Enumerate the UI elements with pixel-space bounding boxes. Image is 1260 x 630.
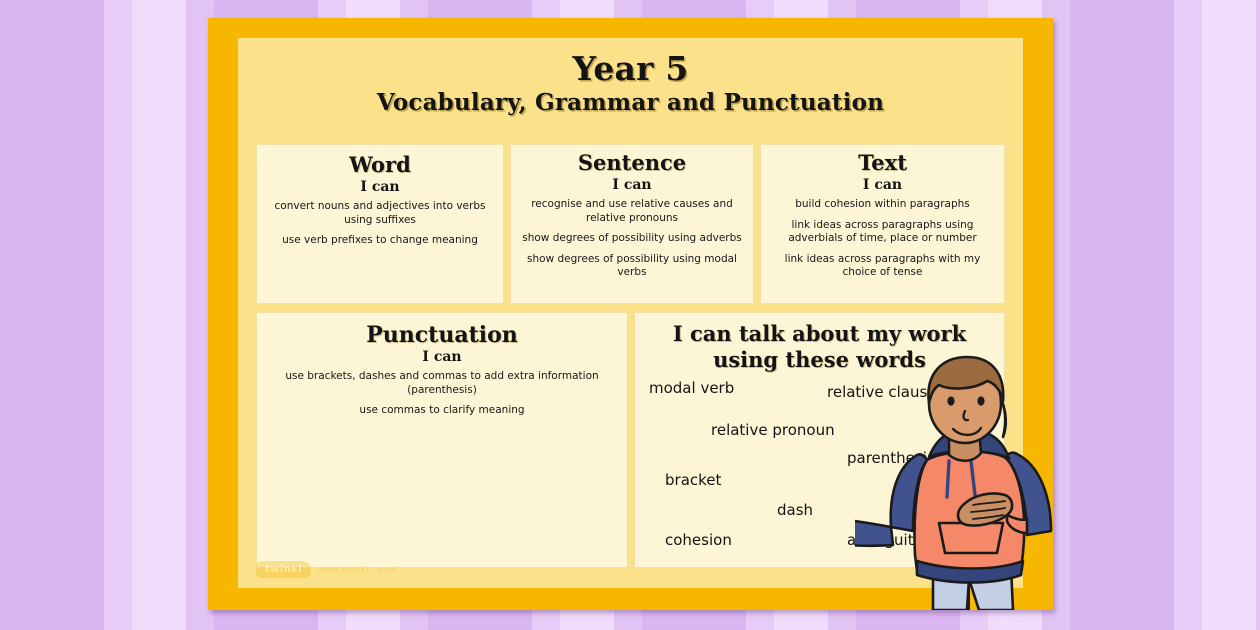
word-cloud-heading: I can talk about my work using these wor…: [635, 313, 1004, 373]
card-word-line: use verb prefixes to change meaning: [257, 234, 503, 248]
card-punctuation-line: use commas to clarify meaning: [257, 404, 627, 418]
word-chip-dash: dash: [777, 501, 813, 519]
word-cloud-heading-line2: using these words: [649, 347, 990, 373]
card-punctuation-line: use brackets, dashes and commas to add e…: [257, 370, 627, 397]
card-text-line: build cohesion within paragraphs: [761, 198, 1004, 212]
page-title: Year 5: [238, 50, 1023, 88]
striped-background: Year 5 Vocabulary, Grammar and Punctuati…: [0, 0, 1260, 630]
word-cloud-area: modal verb relative clause relative pron…: [635, 373, 1005, 568]
twinkl-logo: twinkl: [256, 561, 311, 578]
word-chip-cohesion: cohesion: [665, 531, 732, 549]
twinkl-watermark: twinkl www.twinkl.co.uk: [256, 561, 397, 578]
poster-title-block: Year 5 Vocabulary, Grammar and Punctuati…: [238, 50, 1023, 118]
word-chip-ambiguity: ambiguity: [847, 531, 922, 549]
card-text: Text I can build cohesion within paragra…: [760, 144, 1005, 304]
card-text-lines: build cohesion within paragraphs link id…: [761, 198, 1004, 280]
card-punctuation-heading: Punctuation: [257, 322, 627, 348]
card-word-lines: convert nouns and adjectives into verbs …: [257, 200, 503, 248]
card-sentence-line: show degrees of possibility using modal …: [511, 253, 753, 280]
card-word-line: convert nouns and adjectives into verbs …: [257, 200, 503, 227]
card-sentence-line: recognise and use relative causes and re…: [511, 198, 753, 225]
card-text-line: link ideas across paragraphs with my cho…: [761, 253, 1004, 280]
word-chip-relative-clause: relative clause: [827, 383, 937, 401]
card-punctuation-lines: use brackets, dashes and commas to add e…: [257, 370, 627, 418]
card-text-ican: I can: [761, 176, 1004, 195]
page-subtitle: Vocabulary, Grammar and Punctuation: [238, 88, 1023, 118]
card-sentence-lines: recognise and use relative causes and re…: [511, 198, 753, 280]
card-punctuation-ican: I can: [257, 348, 627, 367]
word-cloud-heading-line1: I can talk about my work: [649, 321, 990, 347]
card-word-heading: Word: [257, 152, 503, 178]
card-word-cloud: I can talk about my work using these wor…: [634, 312, 1005, 568]
card-punctuation: Punctuation I can use brackets, dashes a…: [256, 312, 628, 568]
word-chip-modal-verb: modal verb: [649, 379, 734, 397]
card-sentence-line: show degrees of possibility using adverb…: [511, 232, 753, 246]
word-chip-bracket: bracket: [665, 471, 721, 489]
word-chip-relative-pronoun: relative pronoun: [711, 421, 835, 439]
card-text-line: link ideas across paragraphs using adver…: [761, 219, 1004, 246]
card-word: Word I can convert nouns and adjectives …: [256, 144, 504, 304]
poster-frame: Year 5 Vocabulary, Grammar and Punctuati…: [208, 18, 1053, 610]
card-text-heading: Text: [761, 150, 1004, 176]
twinkl-url: www.twinkl.co.uk: [318, 565, 397, 574]
word-chip-parenthesis: parenthesis: [847, 449, 935, 467]
card-sentence: Sentence I can recognise and use relativ…: [510, 144, 754, 304]
card-sentence-ican: I can: [511, 176, 753, 195]
poster-inner-panel: Year 5 Vocabulary, Grammar and Punctuati…: [238, 38, 1023, 588]
card-sentence-heading: Sentence: [511, 150, 753, 176]
card-word-ican: I can: [257, 178, 503, 197]
